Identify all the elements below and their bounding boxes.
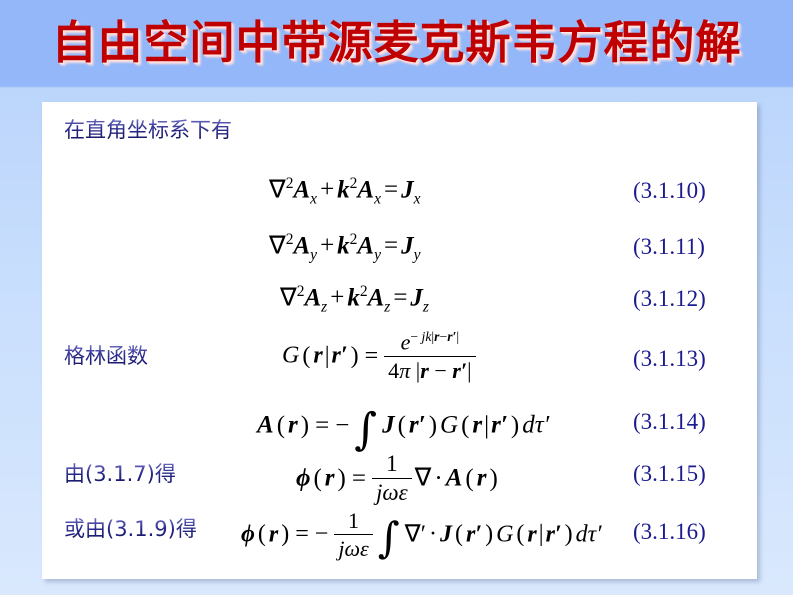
equation-number-3-1-16: (3.1.16) xyxy=(633,519,706,545)
equation-3-1-11: ∇2Ay+k2Ay=Jy xyxy=(269,232,421,263)
green-function-label: 格林函数 xyxy=(64,345,148,368)
from-eq-317-label: 由(3.1.7)得 xyxy=(64,463,176,486)
page-title: 自由空间中带源麦克斯韦方程的解 xyxy=(0,6,793,71)
equation-3-1-12: ∇2Az+k2Az=Jz xyxy=(280,284,429,315)
content-panel: 在直角坐标系下有 ∇2Ax+k2Ax=Jx (3.1.10) ∇2Ay+k2Ay… xyxy=(42,102,757,579)
intro-label: 在直角坐标系下有 xyxy=(64,119,232,142)
slide-canvas: 自由空间中带源麦克斯韦方程的解 在直角坐标系下有 ∇2Ax+k2Ax=Jx (3… xyxy=(0,0,793,595)
from-eq-319-label: 或由(3.1.9)得 xyxy=(64,518,197,541)
inverse-jwe-fraction-2: 1 jωε xyxy=(334,508,372,562)
equation-3-1-14: A(r)=−∫J(r′)G(r|r′)dτ′ xyxy=(257,408,549,452)
equation-number-3-1-12: (3.1.12) xyxy=(633,286,706,312)
inverse-jwe-fraction: 1 jωε xyxy=(372,451,412,507)
equation-number-3-1-13: (3.1.13) xyxy=(633,346,706,372)
equation-3-1-10: ∇2Ax+k2Ax=Jx xyxy=(269,176,421,207)
green-function-fraction: e− jk|r−r′| 4π |r − r′| xyxy=(384,329,475,383)
equation-number-3-1-10: (3.1.10) xyxy=(633,178,706,204)
equation-3-1-16: ϕ(r)=− 1 jωε ∫∇′·J(r′)G(r|r′)dτ′ xyxy=(241,509,602,563)
equation-number-3-1-14: (3.1.14) xyxy=(633,409,706,435)
equation-number-3-1-15: (3.1.15) xyxy=(633,461,706,487)
equation-number-3-1-11: (3.1.11) xyxy=(633,234,705,260)
equation-3-1-15: ϕ(r)= 1 jωε ∇·A(r) xyxy=(296,452,501,508)
title-band: 自由空间中带源麦克斯韦方程的解 xyxy=(0,0,793,88)
equation-3-1-13: G(r|r′)= e− jk|r−r′| 4π |r − r′| xyxy=(282,330,479,384)
